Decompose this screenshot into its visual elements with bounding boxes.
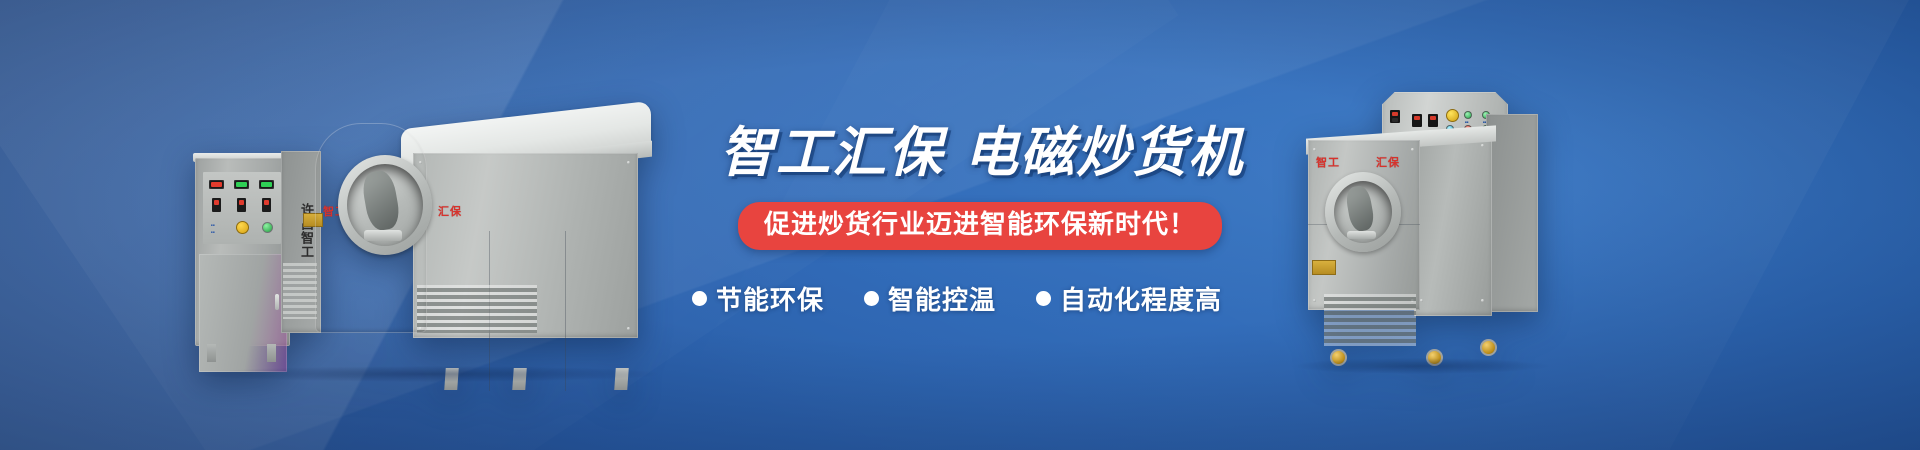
left-control-panel: ■■ ■■ — [203, 172, 281, 244]
badge-row: 促进炒货行业迈进智能环保新时代！ — [690, 202, 1290, 250]
caster-wheel — [1480, 339, 1497, 356]
slogan-badge: 促进炒货行业迈进智能环保新时代！ — [738, 202, 1222, 250]
push-button-green[interactable] — [1464, 111, 1472, 119]
headline-part-1: 智工汇保 — [720, 123, 944, 183]
product-image-right: ■■ ■■ ■■ ■■ ■■ 智工 汇保 — [1290, 92, 1550, 362]
drum-vane — [360, 168, 402, 232]
headline-part-2: 电磁炒货机 — [964, 123, 1244, 183]
right-ground-shadow — [1290, 358, 1550, 374]
dot-icon — [692, 291, 707, 306]
display-readout — [1390, 110, 1400, 123]
feature-label-1: 节能环保 — [716, 280, 824, 317]
display-readout — [1412, 114, 1422, 127]
product-hero-banner: ■■ ■■ 许昌智工 — [0, 0, 1920, 450]
right-vent-grille — [1324, 294, 1416, 346]
indicator-lamp — [262, 222, 273, 233]
left-vent-grille-front — [417, 285, 537, 333]
right-machine-side-panel — [1486, 114, 1538, 312]
right-machine-mid-body — [1414, 134, 1492, 316]
feature-label-2: 智能控温 — [888, 280, 996, 317]
left-brand-text-2: 汇保 — [438, 203, 462, 219]
banner-copy-block: 智工汇保电磁炒货机 促进炒货行业迈进智能环保新时代！ 节能环保 智能控温 自动化… — [690, 126, 1290, 317]
right-drum-ring — [1325, 172, 1401, 252]
right-brand-text-1: 智工 — [1316, 154, 1340, 170]
drum-vane — [1344, 184, 1376, 232]
emergency-stop-icon[interactable] — [236, 221, 249, 234]
left-drum-ring — [338, 155, 432, 255]
feature-item-2: 智能控温 — [864, 280, 996, 317]
feature-item-1: 节能环保 — [692, 280, 824, 317]
display-readout — [209, 180, 224, 189]
display-readout — [234, 180, 249, 189]
drum-lip — [1347, 231, 1376, 240]
left-ground-shadow — [195, 366, 665, 382]
nameplate-label — [1312, 260, 1336, 275]
dot-icon — [864, 291, 879, 306]
rocker-switch[interactable] — [212, 198, 221, 212]
emergency-stop-icon[interactable] — [1446, 109, 1459, 122]
dot-icon — [1036, 291, 1051, 306]
drum-lip — [364, 230, 402, 241]
rocker-switch[interactable] — [237, 198, 246, 212]
left-control-cabinet: ■■ ■■ — [195, 158, 290, 346]
cabinet-handle[interactable] — [275, 294, 279, 310]
feature-list: 节能环保 智能控温 自动化程度高 — [690, 280, 1290, 317]
feature-label-3: 自动化程度高 — [1060, 280, 1222, 317]
left-drum-opening — [347, 164, 423, 246]
feature-item-3: 自动化程度高 — [1036, 280, 1222, 317]
product-image-left: ■■ ■■ 许昌智工 — [195, 95, 665, 370]
banner-headline: 智工汇保电磁炒货机 — [690, 126, 1290, 180]
right-brand-text-2: 汇保 — [1376, 154, 1400, 170]
rocker-switch[interactable] — [262, 198, 271, 212]
display-readout — [259, 180, 274, 189]
display-readout — [1428, 114, 1438, 127]
right-drum-opening — [1334, 181, 1392, 243]
